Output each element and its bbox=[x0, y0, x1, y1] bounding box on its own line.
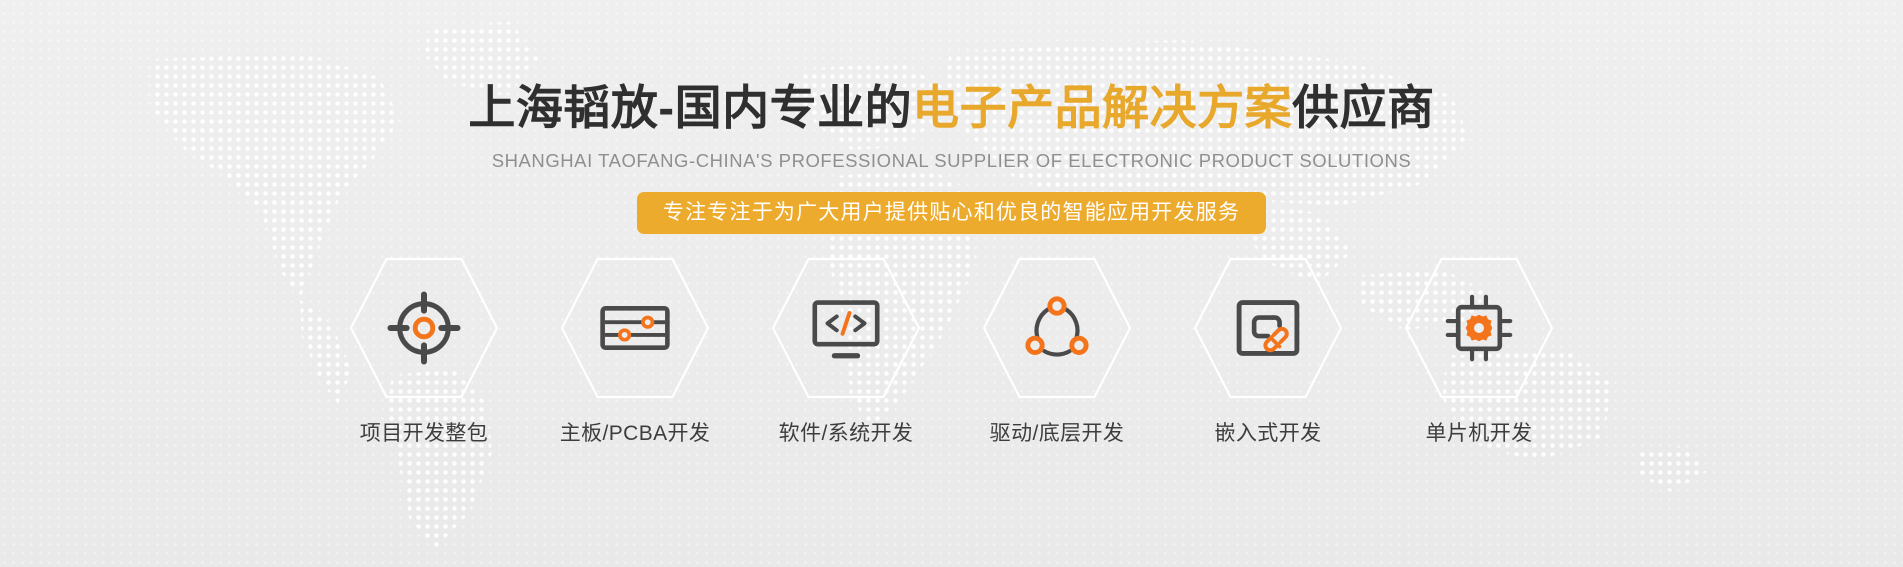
feature-label: 项目开发整包 bbox=[360, 417, 488, 447]
feature-label: 驱动/底层开发 bbox=[990, 417, 1125, 447]
hexagon-frame bbox=[349, 255, 499, 401]
tagline-badge: 专注专注于为广大用户提供贴心和优良的智能应用开发服务 bbox=[637, 192, 1266, 234]
network-nodes-icon bbox=[1020, 291, 1094, 365]
feature-item-project-package[interactable]: 项目开发整包 bbox=[340, 255, 508, 447]
hexagon-frame bbox=[1193, 255, 1343, 401]
hero-banner: 上海韬放-国内专业的电子产品解决方案供应商 SHANGHAI TAOFANG-C… bbox=[0, 0, 1903, 567]
page-title: 上海韬放-国内专业的电子产品解决方案供应商 bbox=[0, 84, 1903, 131]
feature-list: 项目开发整包 bbox=[0, 255, 1903, 447]
tagline-container: 专注专注于为广大用户提供贴心和优良的智能应用开发服务 bbox=[0, 192, 1903, 234]
headline-lead: 上海韬放-国内专业的 bbox=[468, 81, 912, 134]
mcu-gear-icon bbox=[1442, 291, 1516, 365]
pcb-board-icon bbox=[598, 291, 672, 365]
feature-label: 主板/PCBA开发 bbox=[560, 417, 711, 447]
feature-item-embedded[interactable]: 嵌入式开发 bbox=[1184, 255, 1352, 447]
feature-label: 软件/系统开发 bbox=[779, 417, 914, 447]
hexagon-frame bbox=[771, 255, 921, 401]
crosshair-target-icon bbox=[387, 291, 461, 365]
headline-tail: 供应商 bbox=[1292, 81, 1435, 134]
feature-label: 单片机开发 bbox=[1426, 417, 1533, 447]
hexagon-frame bbox=[982, 255, 1132, 401]
feature-item-software[interactable]: 软件/系统开发 bbox=[762, 255, 930, 447]
monitor-code-icon bbox=[809, 291, 883, 365]
hexagon-frame bbox=[560, 255, 710, 401]
feature-item-mcu[interactable]: 单片机开发 bbox=[1395, 255, 1563, 447]
embedded-chip-link-icon bbox=[1231, 291, 1305, 365]
feature-item-pcba[interactable]: 主板/PCBA开发 bbox=[551, 255, 719, 447]
headline-accent: 电子产品解决方案 bbox=[912, 81, 1292, 134]
hexagon-frame bbox=[1404, 255, 1554, 401]
feature-item-driver[interactable]: 驱动/底层开发 bbox=[973, 255, 1141, 447]
page-subtitle: SHANGHAI TAOFANG-CHINA'S PROFESSIONAL SU… bbox=[0, 150, 1903, 172]
feature-label: 嵌入式开发 bbox=[1215, 417, 1322, 447]
